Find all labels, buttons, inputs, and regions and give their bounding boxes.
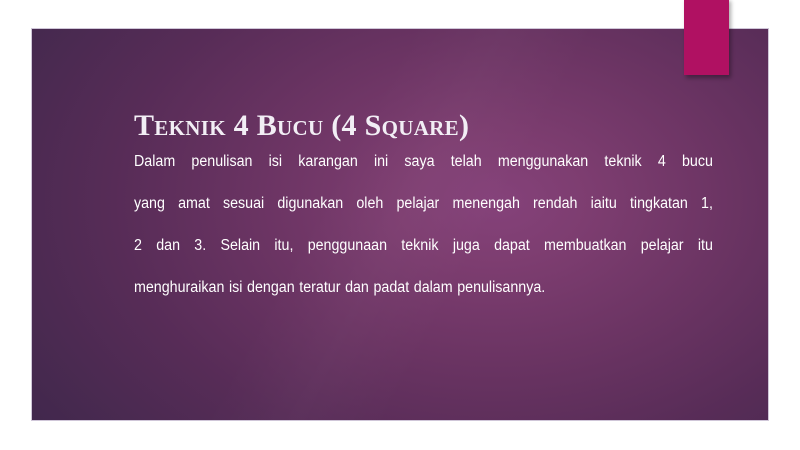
body-word: teknik: [604, 151, 641, 193]
body-word: 2: [134, 235, 142, 277]
body-word: bucu: [682, 151, 713, 193]
body-line: yangamatsesuaidigunakanolehpelajarmeneng…: [134, 193, 713, 235]
body-word: dan: [345, 277, 369, 319]
body-word: isi: [269, 151, 282, 193]
body-word: 4: [658, 151, 666, 193]
magenta-accent-bar: [684, 0, 729, 75]
body-word: dalam: [414, 277, 453, 319]
body-word: ini: [374, 151, 388, 193]
body-word: juga: [453, 235, 480, 277]
body-word: sesuai: [223, 193, 264, 235]
body-word: padat: [373, 277, 409, 319]
body-word: isi: [229, 277, 242, 319]
body-word: oleh: [356, 193, 383, 235]
body-word: Dalam: [134, 151, 175, 193]
presentation-slide: Teknik 4 Bucu (4 Square) Dalampenulisani…: [31, 28, 769, 421]
body-word: teratur: [299, 277, 340, 319]
slide-body-text: Dalampenulisanisikaranganinisayatelahmen…: [134, 151, 713, 319]
body-line: Dalampenulisanisikaranganinisayatelahmen…: [134, 151, 713, 193]
body-word: penggunaan: [308, 235, 387, 277]
body-word: 3.: [194, 235, 206, 277]
body-word: penulisan: [191, 151, 252, 193]
body-word: karangan: [298, 151, 357, 193]
body-word: teknik: [401, 235, 438, 277]
body-word: saya: [404, 151, 434, 193]
body-word: 1,: [701, 193, 713, 235]
body-word: Selain: [220, 235, 260, 277]
slide-canvas: Teknik 4 Bucu (4 Square) Dalampenulisani…: [0, 0, 800, 450]
body-word: rendah: [533, 193, 577, 235]
body-line: menghuraikanisidenganteraturdanpadatdala…: [134, 277, 713, 319]
body-word: yang: [134, 193, 165, 235]
body-word: telah: [451, 151, 482, 193]
body-line: 2dan3.Selainitu,penggunaanteknikjugadapa…: [134, 235, 713, 277]
body-word: dan: [156, 235, 180, 277]
body-word: menengah: [452, 193, 519, 235]
body-word: menggunakan: [498, 151, 588, 193]
body-word: tingkatan: [630, 193, 688, 235]
body-word: itu,: [274, 235, 293, 277]
body-word: menghuraikan: [134, 277, 224, 319]
slide-title: Teknik 4 Bucu (4 Square): [134, 109, 724, 143]
body-word: pelajar: [397, 193, 440, 235]
body-word: digunakan: [277, 193, 343, 235]
body-word: itu: [698, 235, 713, 277]
body-word: dapat: [494, 235, 530, 277]
body-word: penulisannya.: [457, 277, 545, 319]
body-word: amat: [178, 193, 210, 235]
body-word: membuatkan: [544, 235, 626, 277]
body-word: dengan: [247, 277, 295, 319]
body-word: iaitu: [591, 193, 617, 235]
body-word: pelajar: [641, 235, 684, 277]
